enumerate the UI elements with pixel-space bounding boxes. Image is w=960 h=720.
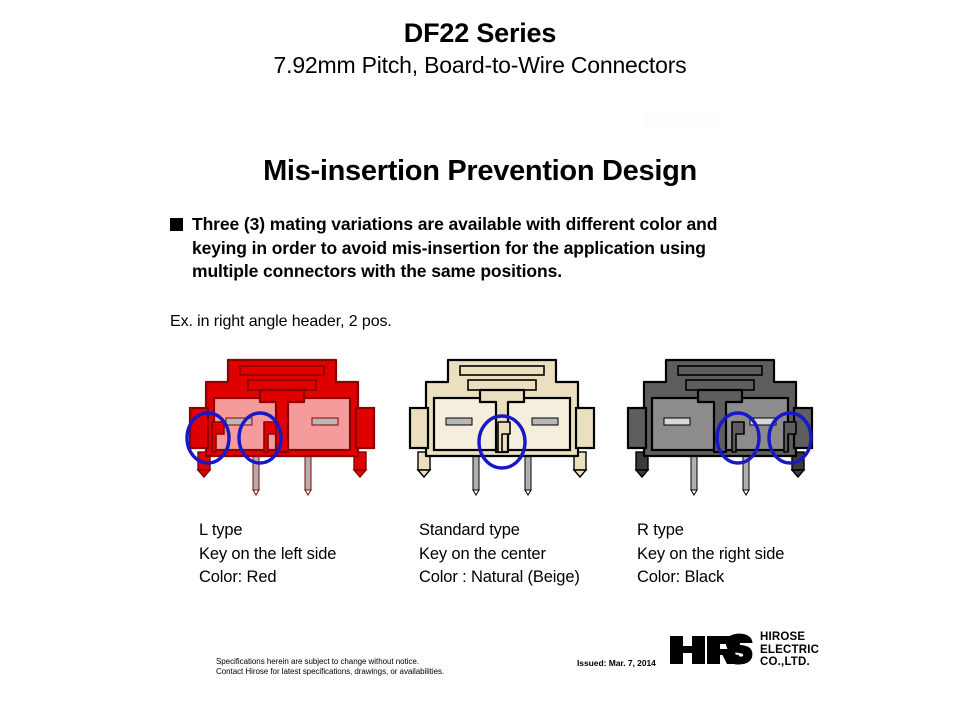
disclaimer-line-1: Specifications herein are subject to cha…: [216, 657, 444, 667]
connector-figure-standard-type: [402, 352, 602, 497]
example-label: Ex. in right angle header, 2 pos.: [170, 313, 392, 331]
signal-pin-2: [305, 456, 311, 495]
disclaimer-line-2: Contact Hirose for latest specifications…: [216, 667, 444, 677]
caption-type-name: R type: [637, 519, 784, 543]
left-wing: [628, 408, 646, 448]
connector-drawing-r-type: [620, 352, 820, 497]
signal-pin-2: [525, 456, 531, 495]
right-wing: [576, 408, 594, 448]
caption-key-pos: Key on the center: [419, 543, 580, 567]
bullet-block: Three (3) mating variations are availabl…: [170, 213, 850, 284]
inner-rib: [686, 380, 754, 390]
connector-figure-l-type: [182, 352, 382, 497]
logo-line-1: HIROSE: [760, 631, 819, 644]
footer-issued-date: Issued: Mar. 7, 2014: [577, 658, 656, 668]
logo-company-name: HIROSE ELECTRIC CO.,LTD.: [760, 631, 819, 669]
bullet-line-3: multiple connectors with the same positi…: [192, 260, 717, 284]
contact-slot-left: [664, 418, 690, 425]
caption-key-pos: Key on the right side: [637, 543, 784, 567]
connector-drawing-standard-type: [402, 352, 602, 497]
top-rib: [460, 366, 544, 375]
logo-line-3: CO.,LTD.: [760, 656, 819, 669]
slide-title: DF22 Series: [0, 18, 960, 49]
right-wing: [356, 408, 374, 448]
caption-color: Color : Natural (Beige): [419, 566, 580, 590]
inner-rib: [468, 380, 536, 390]
connector-drawing-l-type: [182, 352, 382, 497]
caption-key-pos: Key on the left side: [199, 543, 336, 567]
left-wing: [410, 408, 428, 448]
connector-caption-l-type: L type Key on the left side Color: Red: [199, 519, 336, 590]
caption-color: Color: Black: [637, 566, 784, 590]
hirose-logo: HIROSE ELECTRIC CO.,LTD.: [668, 631, 819, 669]
square-bullet-icon: [170, 218, 183, 231]
contact-slot-right: [532, 418, 558, 425]
caption-type-name: Standard type: [419, 519, 580, 543]
hrs-logo-icon: [668, 633, 754, 667]
caption-color: Color: Red: [199, 566, 336, 590]
connector-caption-standard-type: Standard type Key on the center Color : …: [419, 519, 580, 590]
bullet-line-2: keying in order to avoid mis-insertion f…: [192, 237, 717, 261]
slide-subtitle: 7.92mm Pitch, Board-to-Wire Connectors: [0, 52, 960, 79]
connector-figure-r-type: [620, 352, 820, 497]
section-heading: Mis-insertion Prevention Design: [0, 155, 960, 188]
contact-slot-left: [446, 418, 472, 425]
contact-slot-right: [312, 418, 338, 425]
signal-pin-1: [691, 456, 697, 495]
top-rib: [240, 366, 324, 375]
caption-type-name: L type: [199, 519, 336, 543]
bullet-line-1: Three (3) mating variations are availabl…: [192, 213, 717, 237]
inner-rib: [248, 380, 316, 390]
connector-figure-row: [0, 352, 960, 497]
footer-disclaimer: Specifications herein are subject to cha…: [216, 657, 444, 676]
logo-line-2: ELECTRIC: [760, 644, 819, 657]
signal-pin-1: [473, 456, 479, 495]
top-rib: [678, 366, 762, 375]
bullet-text: Three (3) mating variations are availabl…: [192, 213, 717, 284]
background-artifact: [645, 112, 720, 128]
connector-caption-r-type: R type Key on the right side Color: Blac…: [637, 519, 784, 590]
